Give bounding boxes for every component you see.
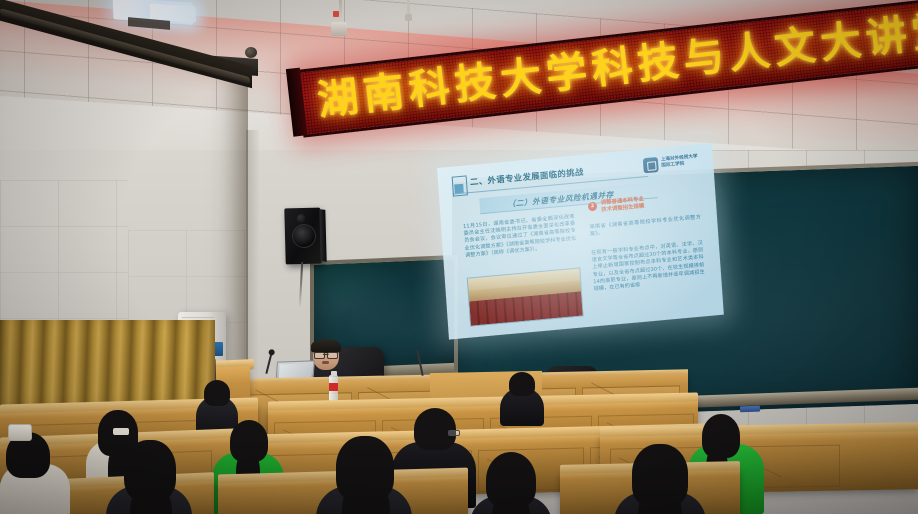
projector-indicator-icon bbox=[333, 11, 339, 17]
projection-screen: 二、外语专业发展面临的挑战 上海对外经贸大学 国际工学院 （二）外语专业风险机遇… bbox=[437, 143, 724, 340]
slide-subtitle: （二）外语专业风险机遇并存 bbox=[507, 189, 614, 210]
blue-eraser bbox=[740, 406, 760, 413]
white-hair-clip bbox=[8, 424, 32, 441]
ac-control-panel[interactable] bbox=[214, 342, 223, 356]
water-bottle bbox=[329, 375, 338, 401]
speaker-tweeter-icon bbox=[296, 214, 305, 223]
slide-badge-icon: 2 bbox=[588, 202, 598, 212]
slide-logo: 上海对外经贸大学 国际工学院 bbox=[643, 151, 706, 175]
speaker-woofer-icon bbox=[292, 224, 317, 249]
hair-scrunchie bbox=[113, 428, 129, 435]
slide-embedded-photo bbox=[467, 267, 584, 326]
slide-right-paragraph-2: 在现有一般学科专业布点中，对英语、法学、汉语言文学等全省布点超过30个的本科专业… bbox=[591, 240, 706, 293]
lecture-hall-photo: 湖南科技大学科技与人文大讲堂 二、外语专业发展面临的挑战 上海对外经贸大学 国际… bbox=[0, 0, 918, 514]
projector-mount-bracket bbox=[405, 14, 412, 21]
university-emblem-icon bbox=[643, 156, 659, 172]
ceiling-projector bbox=[331, 22, 347, 36]
presentation-slide: 二、外语专业发展面临的挑战 上海对外经贸大学 国际工学院 （二）外语专业风险机遇… bbox=[437, 143, 724, 340]
presenter-hair bbox=[311, 339, 341, 353]
curtain-rod-finial bbox=[245, 47, 257, 58]
presenter-mouth bbox=[322, 361, 329, 364]
slide-badge-heading: 调整普通本科专业 技术调整招生规模 bbox=[601, 196, 645, 213]
slide-left-column: 11月15日，湖南省委书记、省委全面深化改革委员会主任沈晓明主持召开省委全面深化… bbox=[463, 214, 577, 260]
slide-right-paragraph-1: 湖南省《湖南省高等院校学科专业优化调整方案》。 bbox=[589, 214, 702, 239]
slide-title-marker-icon bbox=[452, 175, 468, 196]
presenter-glasses-icon bbox=[314, 352, 338, 357]
wall-speaker bbox=[284, 208, 321, 265]
slide-left-paragraph: 11月15日，湖南省委书记、省委全面深化改革委员会主任沈晓明主持召开省委全面深化… bbox=[463, 214, 577, 260]
student-glasses-icon bbox=[448, 430, 460, 436]
